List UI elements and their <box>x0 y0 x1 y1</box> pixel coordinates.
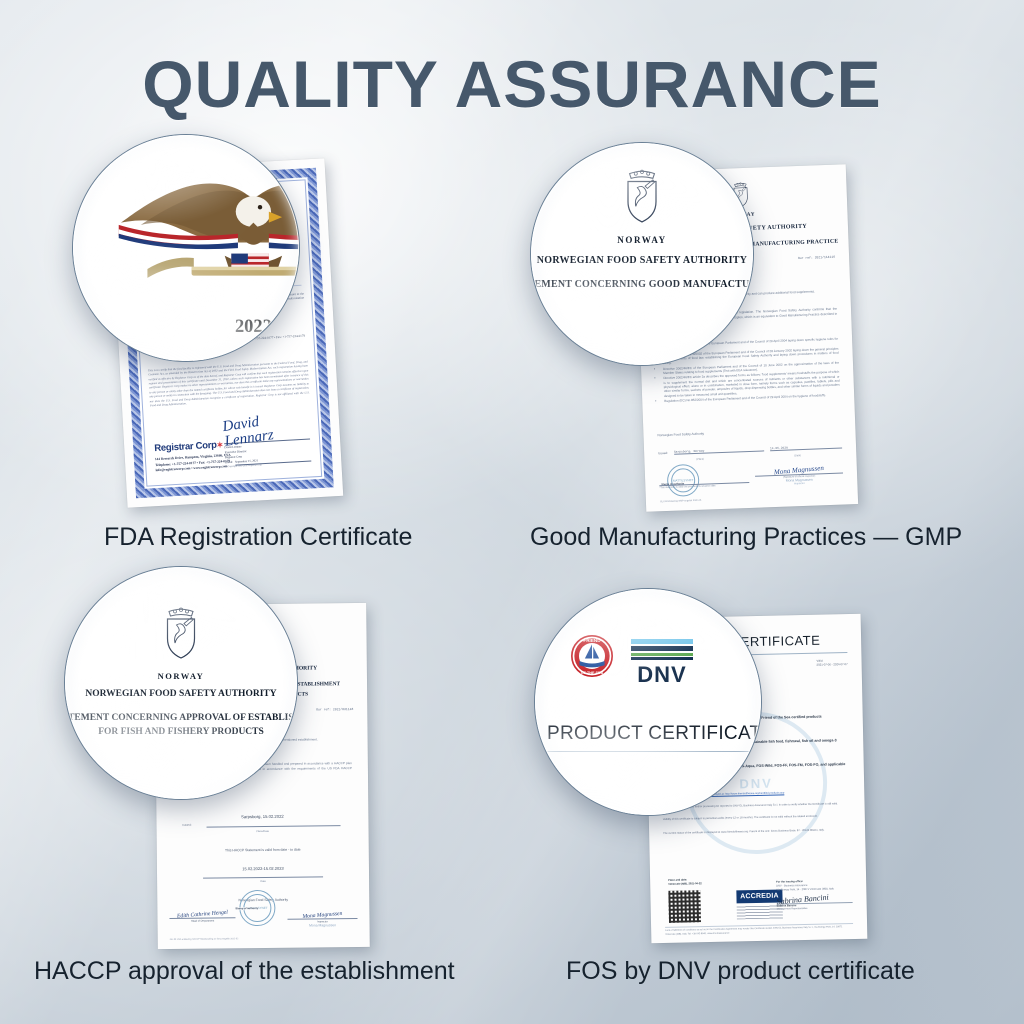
magnifier-lens-fda[interactable]: 2022 CERTIFICATE OF REGISTRATION <box>72 134 300 362</box>
haccp-ref-value: 2022/031148 <box>333 707 353 711</box>
magnifier-lens-gmp[interactable]: NORWAY NORWEGIAN FOOD SAFETY AUTHORITY S… <box>530 142 754 366</box>
gmp-statement-magnified: STATEMENT CONCERNING GOOD MANUFACTURING … <box>530 279 754 290</box>
star-icon: ✶ <box>216 440 223 449</box>
caption-gmp: Good Manufacturing Practices — GMP <box>530 523 962 552</box>
haccp-footer-code: GLI.09 USA erklaering HACCP fiskeforedli… <box>170 938 239 941</box>
norway-coat-of-arms-magnified <box>618 169 666 225</box>
haccp-validity-value: 15.02.2022-15.02.2023 <box>157 865 369 872</box>
gmp-issued-date: 14.06.2020 <box>770 445 842 452</box>
svg-text:OF THE SEA: OF THE SEA <box>581 671 604 675</box>
magnifier-lens-haccp[interactable]: NORWAY NORWEGIAN FOOD SAFETY AUTHORITY S… <box>64 566 298 800</box>
haccp-signature-right: Mona Magnussen Inspector Mona Magnussen <box>287 912 357 928</box>
gmp-signature-block: Mona Magnussen (Signature of official in… <box>755 465 844 487</box>
dnv-valid-value: 2021-07-06 - 2024-07-07 <box>816 663 847 668</box>
dnv-validity-meta: Valid: 2021-07-06 - 2024-07-07 <box>816 658 847 668</box>
gmp-issued-label: Issued: <box>658 451 668 455</box>
gmp-issued-row: Issued: Sarpsborg, Norway 14.06.2020 <box>658 445 842 456</box>
caption-fda: FDA Registration Certificate <box>104 523 412 552</box>
haccp-statement-line-2-magnified: FOR FISH AND FISHERY PRODUCTS <box>65 727 297 737</box>
gmp-ref-label: Our ref: <box>798 255 813 260</box>
caption-dnv: FOS by DNV product certificate <box>566 957 915 986</box>
magnifier-lens-dnv[interactable]: FRIEND OF THE SEA DNV PRODUCT CERTIFICAT… <box>534 588 762 816</box>
haccp-validity-text: This HACCP Statement is valid from date … <box>157 847 369 853</box>
gmp-issued-place: Sarpsborg, Norway <box>674 447 764 454</box>
registrar-corp-wordmark: Registrar Corp <box>154 440 217 454</box>
gmp-country-magnified: NORWAY <box>531 235 753 245</box>
gmp-date-caption: (Date) <box>794 454 801 457</box>
qr-code <box>668 890 701 923</box>
norway-coat-of-arms-magnified <box>158 607 204 661</box>
quality-assurance-poster: QUALITY ASSURANCE <box>0 0 1024 1024</box>
haccp-validity-rule <box>203 876 323 878</box>
dnv-footer: Lack of fulfilment of conditions as set … <box>665 923 853 937</box>
haccp-country-magnified: NORWAY <box>65 671 297 681</box>
dnv-signature-title: Management Representative <box>777 906 853 911</box>
haccp-issued-value: Sarpsborg, 15.02.2022 <box>156 813 368 820</box>
haccp-statement-line-1-magnified: STATEMENT CONCERNING APPROVAL OF ESTABLI… <box>64 713 298 723</box>
dnv-heading-rule-magnified <box>543 751 753 752</box>
gmp-footer-code: GLI.09 Erklaering GMP engelsk 2020-06 <box>660 500 701 504</box>
registrar-corp-logo: Registrar Corp✶ <box>154 439 223 454</box>
gmp-reference: Our ref: 2021/114116 <box>798 255 835 260</box>
caption-haccp: HACCP approval of the establishment <box>34 957 455 986</box>
fda-year-magnified: 2022 <box>72 315 300 336</box>
gmp-authority-magnified: NORWEGIAN FOOD SAFETY AUTHORITY <box>531 255 753 266</box>
gmp-authority-stamp: MATTILSYNET <box>667 464 700 497</box>
gmp-place-caption: (Place) <box>696 458 704 461</box>
american-eagle-emblem-magnified <box>110 160 300 299</box>
haccp-reference: Our ref: 2022/031148 <box>316 707 353 711</box>
haccp-issued-label: Issued: <box>182 823 191 827</box>
fda-address-block: 144 Research Drive, Hampton, Virginia, 2… <box>155 453 232 474</box>
dnv-logo: DNV <box>631 639 693 688</box>
haccp-issued-rule <box>207 825 341 827</box>
dnv-signature-block: For the issuing office: DNV - Business A… <box>776 879 853 911</box>
friend-of-the-sea-logo: FRIEND OF THE SEA <box>571 635 613 677</box>
gmp-closing: Norwegian Food Safety Authority <box>657 432 704 438</box>
haccp-place-date-caption: Place/Date <box>157 829 369 834</box>
haccp-ref-label: Our ref: <box>316 707 331 711</box>
gmp-ref-value: 2021/114116 <box>815 255 836 260</box>
haccp-sig-right-name: Mona Magnussen <box>288 923 358 928</box>
dnv-place-date: Place and date: Vimercate (MB), 2021-04-… <box>668 877 738 886</box>
dnv-place-date-value: Vimercate (MB), 2021-04-22 <box>668 881 738 886</box>
fda-signature-block: David Lennarz David Lennarz Executive Di… <box>223 412 312 470</box>
fda-legal-text: This is to certify that the food facilit… <box>148 359 310 407</box>
dnv-heading-magnified: PRODUCT CERTIFICATE <box>547 723 749 745</box>
page-title: QUALITY ASSURANCE <box>0 46 1024 122</box>
haccp-signature-left: Edith Cathrine Hengel Head of Department <box>169 911 235 923</box>
haccp-stamp-label: Stamp of authority <box>235 907 258 910</box>
haccp-date-caption: Date <box>157 879 369 884</box>
dnv-wordmark: DNV <box>631 662 693 688</box>
svg-text:FRIEND: FRIEND <box>583 638 601 643</box>
haccp-authority-magnified: NORWEGIAN FOOD SAFETY AUTHORITY <box>65 689 297 699</box>
